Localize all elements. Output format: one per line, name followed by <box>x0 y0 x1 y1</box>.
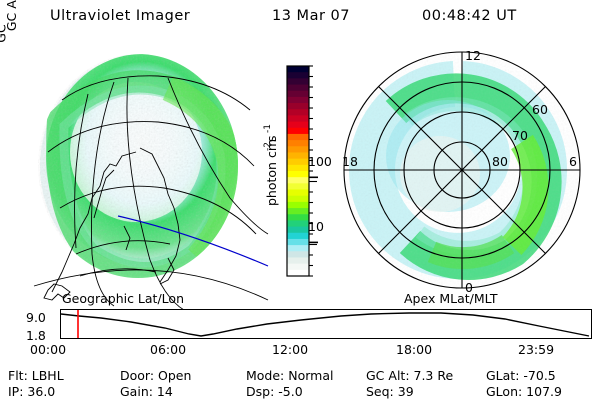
apex-mlat-mlt-dial[interactable]: 12 6 0 18 60 70 80 <box>336 46 588 296</box>
status-glat: GLat: -70.5 <box>486 368 556 383</box>
colorbar-swatch <box>287 115 309 122</box>
svg-text:70: 70 <box>512 128 528 143</box>
gcalt-label-gc: GC <box>0 24 9 42</box>
colorbar-swatch <box>287 214 309 221</box>
svg-text:80: 80 <box>492 154 508 169</box>
colorbar-swatch <box>287 122 309 129</box>
status-flt: Flt: LBHL <box>8 368 64 383</box>
colorbar-swatch <box>287 190 309 197</box>
colorbar-swatch <box>287 177 309 184</box>
colorbar-swatch <box>287 97 309 104</box>
status-mode: Mode: Normal <box>246 368 333 383</box>
colorbar-swatch <box>287 257 309 264</box>
colorbar-swatch <box>287 78 309 85</box>
svg-text:12: 12 <box>465 48 481 63</box>
colorbar-swatch <box>287 91 309 98</box>
colorbar-axis-label: photon cm -2 s -1 <box>263 124 279 206</box>
time-tick-0600: 06:00 <box>150 342 186 357</box>
colorbar-ticks <box>309 66 318 276</box>
colorbar-tick-100: 100 <box>308 154 332 169</box>
colorbar-panel: photon cm -2 s -1 100 10 <box>262 56 334 288</box>
uvi-display: Ultraviolet Imager 13 Mar 07 00:48:42 UT <box>0 0 600 400</box>
colorbar-swatch <box>287 183 309 190</box>
colorbar-swatch <box>287 140 309 147</box>
colorbar-swatch <box>287 227 309 234</box>
colorbar-gradient <box>287 66 309 277</box>
svg-text:18: 18 <box>342 154 358 169</box>
geographic-subtitle: Geographic Lat/Lon <box>62 291 184 306</box>
colorbar-swatch <box>287 208 309 215</box>
colorbar-tick-10: 10 <box>308 219 324 234</box>
instrument-title: Ultraviolet Imager <box>50 8 190 24</box>
status-ip: IP: 36.0 <box>8 384 55 399</box>
status-glon: GLon: 107.9 <box>486 384 562 399</box>
observation-date: 13 Mar 07 <box>272 8 350 24</box>
header-bar: Ultraviolet Imager 13 Mar 07 00:48:42 UT <box>0 8 600 30</box>
time-tick-2359: 23:59 <box>518 342 554 357</box>
status-dsp: Dsp: -5.0 <box>246 384 303 399</box>
colorbar-swatch <box>287 165 309 172</box>
colorbar-swatch <box>287 171 309 178</box>
colorbar-swatch <box>287 202 309 209</box>
time-tick-1800: 18:00 <box>396 342 432 357</box>
colorbar-swatch <box>287 233 309 240</box>
time-tick-1200: 12:00 <box>272 342 308 357</box>
colorbar-swatch <box>287 245 309 252</box>
gcalt-tick-high: 9.0 <box>26 310 46 325</box>
colorbar-swatch <box>287 196 309 203</box>
status-seq: Seq: 39 <box>366 384 414 399</box>
colorbar-swatch <box>287 85 309 92</box>
orbit-altitude-plot[interactable] <box>60 309 592 339</box>
colorbar-swatch <box>287 220 309 227</box>
colorbar-swatch <box>287 159 309 166</box>
svg-text:-2: -2 <box>263 142 273 151</box>
status-door: Door: Open <box>120 368 191 383</box>
observation-time: 00:48:42 UT <box>422 8 517 24</box>
colorbar-swatch <box>287 239 309 246</box>
colorbar-swatch <box>287 72 309 79</box>
colorbar-swatch <box>287 152 309 159</box>
time-tick-0000: 00:00 <box>30 342 66 357</box>
colorbar-swatch <box>287 264 309 271</box>
gcalt-axis-label: GC Alt GC <box>0 0 22 46</box>
aurora-emission-layer <box>38 54 238 278</box>
apex-subtitle: Apex MLat/MLT <box>404 291 498 306</box>
colorbar-swatch <box>287 66 309 73</box>
svg-text:60: 60 <box>532 102 548 117</box>
status-gcalt: GC Alt: 7.3 Re <box>366 368 453 383</box>
svg-text:s: s <box>264 135 279 142</box>
geographic-aurora-image[interactable] <box>18 48 268 290</box>
orbit-altitude-trace <box>61 313 589 336</box>
status-gain: Gain: 14 <box>120 384 173 399</box>
svg-text:-1: -1 <box>263 124 273 133</box>
colorbar-swatch <box>287 146 309 153</box>
colorbar-swatch <box>287 103 309 110</box>
colorbar-swatch <box>287 128 309 135</box>
svg-text:6: 6 <box>569 154 577 169</box>
colorbar-swatch <box>287 251 309 258</box>
colorbar-swatch <box>287 109 309 116</box>
colorbar-swatch <box>287 134 309 141</box>
gcalt-tick-low: 1.8 <box>26 328 46 343</box>
mlt-spokes <box>344 52 580 288</box>
